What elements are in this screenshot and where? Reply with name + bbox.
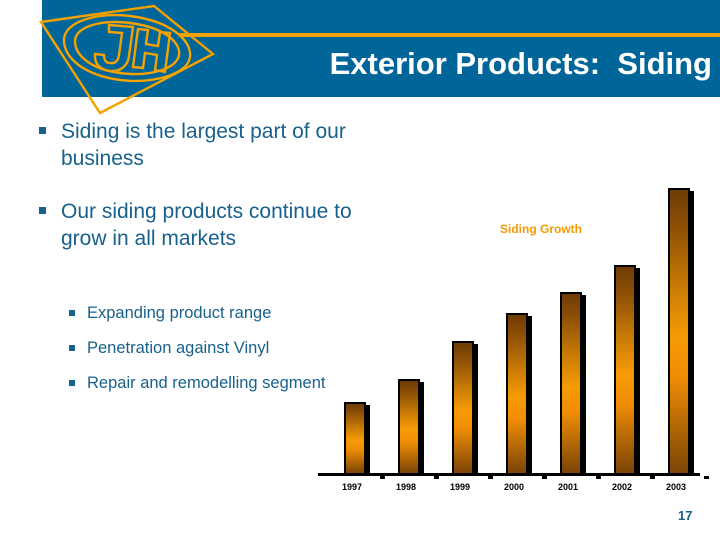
chart-bar-fill [614, 265, 636, 473]
chart-bar [452, 341, 476, 473]
chart-bar [398, 379, 422, 473]
sub-bullet-text: Penetration against Vinyl [87, 339, 269, 357]
chart-bar-shadow [474, 344, 478, 473]
sub-bullet-text: Expanding product range [87, 304, 271, 322]
chart-bar-fill [560, 292, 582, 473]
chart-bar [614, 265, 638, 473]
chart-bar-shadow [366, 405, 370, 473]
chart-axis-tick [434, 476, 439, 479]
chart-bar-fill [344, 402, 366, 473]
chart-bar-fill [398, 379, 420, 473]
siding-growth-bar-chart: Siding Growth 19971998199920002001200220… [310, 175, 710, 500]
chart-x-tick-label: 2000 [494, 482, 534, 492]
chart-bar [344, 402, 368, 473]
chart-x-axis [318, 473, 700, 476]
chart-x-tick-label: 1998 [386, 482, 426, 492]
bullet-square-icon [39, 127, 46, 134]
chart-bar-fill [668, 188, 690, 473]
chart-bar [668, 188, 692, 473]
chart-axis-tick [650, 476, 655, 479]
chart-bar-shadow [690, 191, 694, 473]
chart-axis-tick [596, 476, 601, 479]
chart-bar-shadow [528, 316, 532, 473]
chart-axis-tick [704, 476, 709, 479]
chart-bar [506, 313, 530, 473]
sub-bullet-text: Repair and remodelling segment [87, 374, 325, 392]
chart-x-tick-label: 2002 [602, 482, 642, 492]
chart-bar-shadow [582, 295, 586, 473]
bullet-square-icon [69, 380, 75, 386]
page-number: 17 [678, 508, 692, 523]
bullet-text: Our siding products continue to grow in … [61, 200, 352, 250]
chart-bar-shadow [420, 382, 424, 473]
chart-bar-fill [452, 341, 474, 473]
chart-x-tick-label: 1999 [440, 482, 480, 492]
chart-x-tick-label: 1997 [332, 482, 372, 492]
page-title: Exterior Products: Siding [330, 45, 712, 83]
chart-x-tick-label: 2003 [656, 482, 696, 492]
chart-x-tick-label: 2001 [548, 482, 588, 492]
chart-bar-shadow [636, 268, 640, 473]
chart-axis-tick [488, 476, 493, 479]
chart-axis-tick [542, 476, 547, 479]
bullet-square-icon [69, 310, 75, 316]
bullet-square-icon [69, 345, 75, 351]
chart-bar [560, 292, 584, 473]
bullet-square-icon [39, 207, 46, 214]
chart-bar-fill [506, 313, 528, 473]
bullet-text: Siding is the largest part of our busine… [61, 120, 346, 170]
chart-plot-area [318, 175, 700, 473]
list-item: Siding is the largest part of our busine… [36, 118, 366, 172]
chart-axis-tick [380, 476, 385, 479]
header-accent-rule [180, 33, 720, 37]
